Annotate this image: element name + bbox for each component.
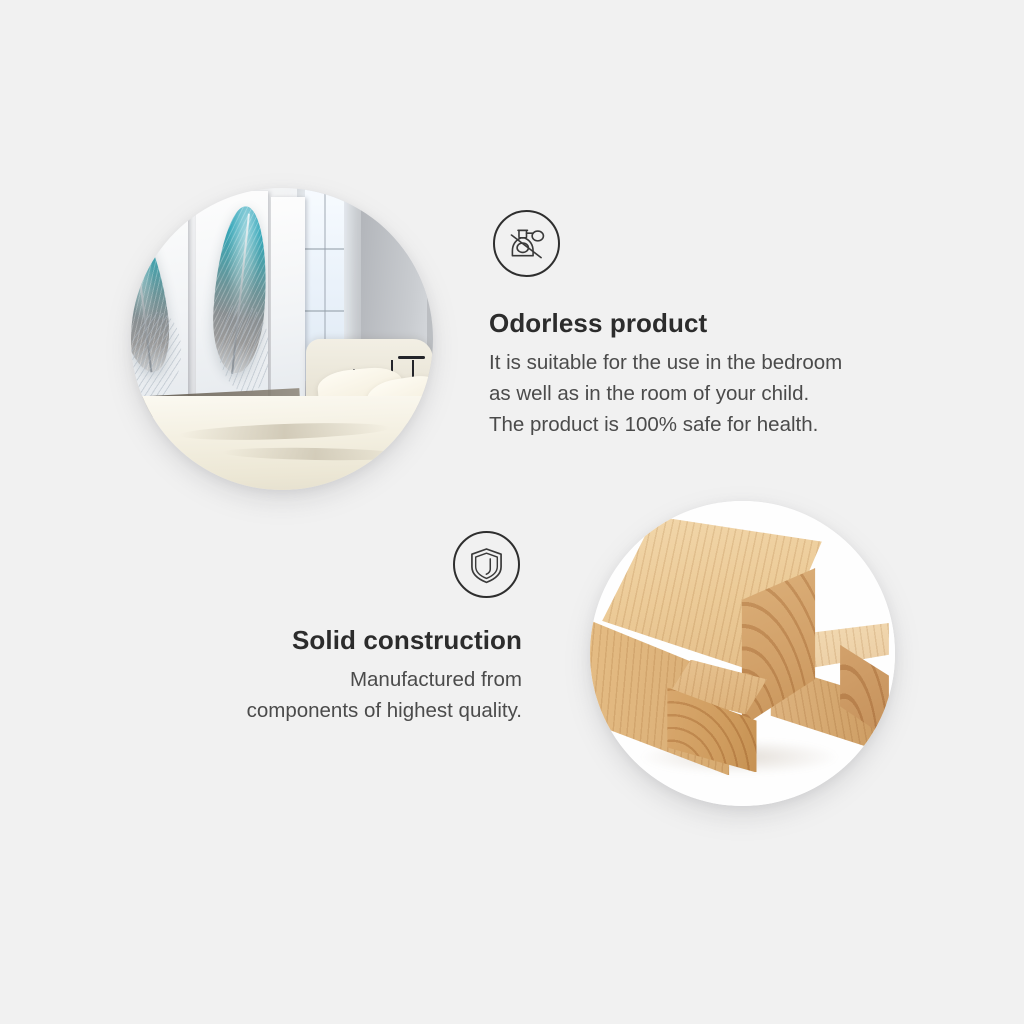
feature-solid-body: Manufactured from components of highest … — [170, 665, 522, 727]
right-lamp-head — [398, 356, 425, 359]
canvas-panel-center — [196, 191, 268, 405]
wooden-blocks-photo — [590, 501, 895, 806]
shield-icon — [453, 531, 520, 598]
bed-duvet — [131, 396, 433, 490]
feature-solid-text: Solid construction Manufactured from com… — [170, 625, 522, 727]
wood-scene — [590, 501, 895, 806]
bedroom-scene — [131, 188, 433, 490]
no-fragrance-icon — [493, 210, 560, 277]
feature-odorless-body: It is suitable for the use in the bedroo… — [489, 348, 929, 440]
canvas-panel-left — [131, 197, 188, 405]
canvas-panel-right — [271, 197, 304, 405]
bedroom-photo — [131, 188, 433, 490]
feature-odorless-title: Odorless product — [489, 308, 929, 339]
feature-odorless-text: Odorless product It is suitable for the … — [489, 308, 929, 440]
infographic-canvas: Odorless product It is suitable for the … — [0, 0, 1024, 1024]
feature-solid-title: Solid construction — [170, 625, 522, 656]
feather-wisp-left — [131, 310, 184, 402]
